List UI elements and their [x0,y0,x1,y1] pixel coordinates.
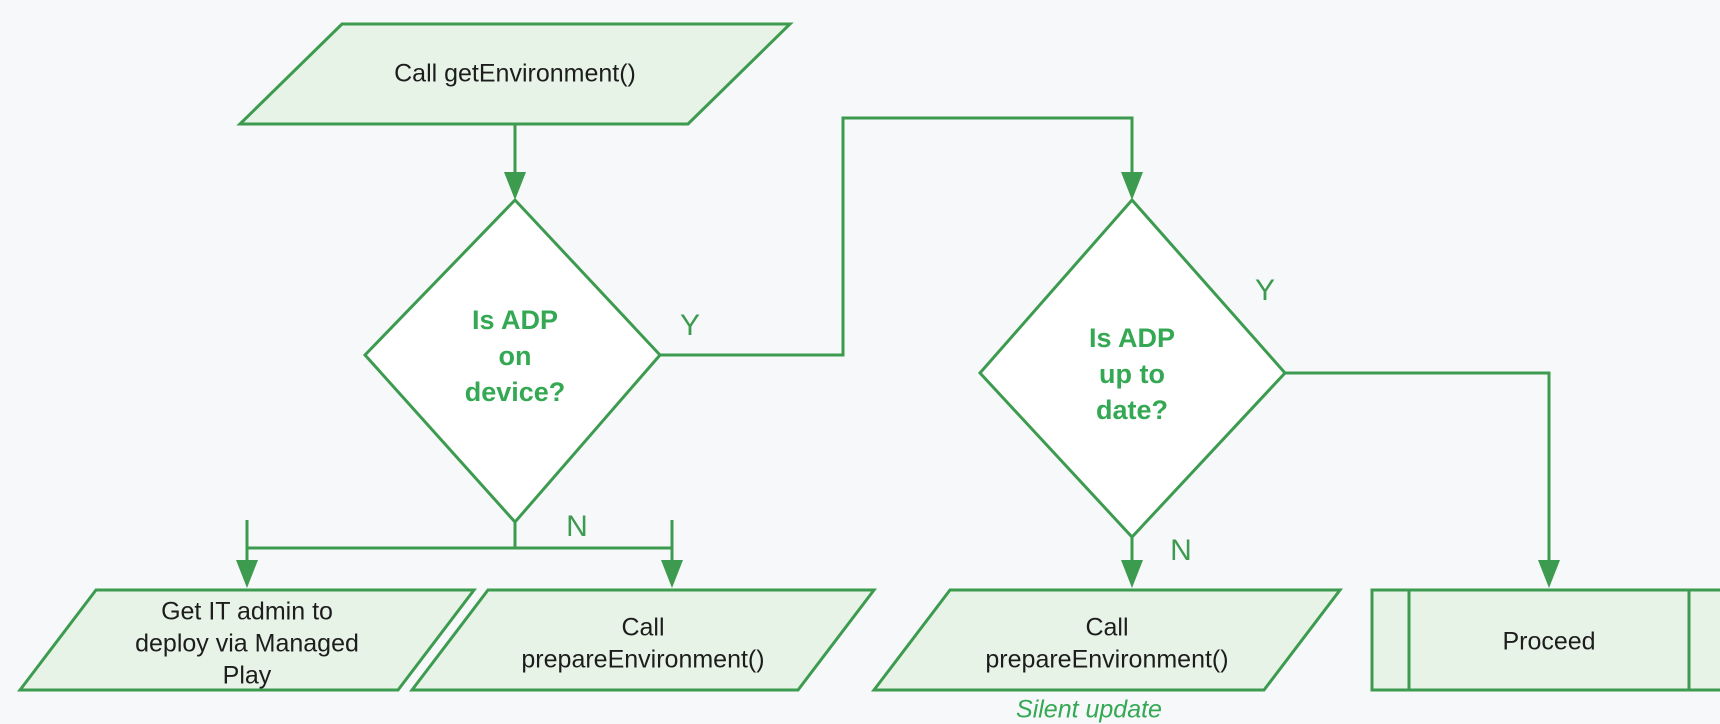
node-is-adp-up-to-date[interactable]: Is ADP up to date? [980,200,1285,537]
node-prepare-environment-right[interactable]: Call prepareEnvironment() [874,590,1340,690]
node-get-it-admin-line1: Get IT admin to [161,598,333,626]
note-silent-update: Silent update [1016,696,1162,724]
flowchart-diagram: Call getEnvironment() Is ADP on device? … [0,0,1720,724]
node-prepare-environment-left-line1: Call [621,614,664,642]
node-is-adp-on-device-line3: device? [465,377,566,407]
node-get-it-admin[interactable]: Get IT admin to deploy via Managed Play [20,590,474,690]
node-prepare-environment-right-line1: Call [1085,614,1128,642]
edge-label-device-yes: Y [680,309,700,342]
edge-getenvironment-to-device [504,124,526,200]
edge-label-device-no: N [566,510,588,543]
node-is-adp-on-device-line1: Is ADP [472,305,558,335]
edge-label-uptodate-no: N [1170,534,1192,567]
node-is-adp-on-device[interactable]: Is ADP on device? [365,200,660,522]
node-call-get-environment-label: Call getEnvironment() [394,60,636,88]
node-call-get-environment[interactable]: Call getEnvironment() [240,24,790,124]
node-get-it-admin-line2: deploy via Managed [135,630,359,658]
edge-label-uptodate-yes: Y [1255,274,1275,307]
node-is-adp-up-to-date-line3: date? [1096,395,1168,425]
edge-uptodate-no-to-prepare [1121,537,1143,588]
node-is-adp-up-to-date-line1: Is ADP [1089,323,1175,353]
edge-uptodate-yes-to-proceed [1285,373,1560,588]
node-is-adp-up-to-date-line2: up to [1099,359,1165,389]
node-get-it-admin-line3: Play [223,662,272,690]
flowchart-canvas: Call getEnvironment() Is ADP on device? … [0,0,1720,724]
node-is-adp-on-device-line2: on [499,341,532,371]
node-prepare-environment-left-line2: prepareEnvironment() [521,646,764,674]
edge-device-no-split [236,520,683,588]
node-prepare-environment-right-line2: prepareEnvironment() [985,646,1228,674]
node-proceed-label: Proceed [1502,628,1595,656]
node-prepare-environment-left[interactable]: Call prepareEnvironment() [412,590,874,690]
node-proceed[interactable]: Proceed [1372,590,1720,690]
